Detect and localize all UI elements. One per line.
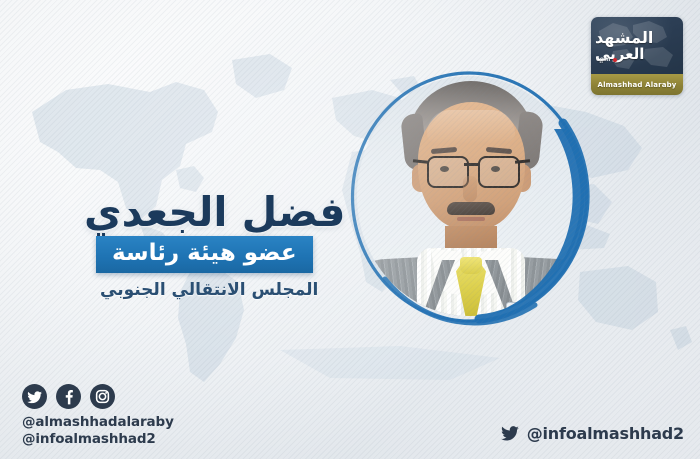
bottom-right-handle[interactable]: @infoalmashhad2 [500, 423, 684, 443]
news-poster: فضل الجعدي عضو هيئة رئاسة المجلس الانتقا… [0, 0, 700, 459]
social-icons-row [22, 384, 174, 409]
logo-com-label: com [596, 56, 611, 63]
bottom-right-handle-text: @infoalmashhad2 [527, 424, 684, 443]
social-handles: @almashhadalaraby @infoalmashhad2 [22, 414, 174, 448]
logo-arabic-text: المشهد العربي [591, 17, 683, 74]
logo-top-panel: المشهد العربي com [591, 17, 683, 74]
logo-red-dot-icon [613, 58, 617, 62]
twitter-icon [500, 423, 520, 443]
handle-secondary[interactable]: @infoalmashhad2 [22, 431, 174, 448]
person-name: فضل الجعدي [84, 189, 346, 235]
portrait-ring-icon [345, 65, 594, 329]
logo-line-2: العربي [595, 46, 644, 62]
social-block: @almashhadalaraby @infoalmashhad2 [22, 384, 174, 448]
channel-logo[interactable]: المشهد العربي com Almashhad Alaraby [591, 17, 683, 95]
twitter-icon[interactable] [22, 384, 47, 409]
organization-label: المجلس الانتقالي الجنوبي [100, 279, 318, 301]
logo-subtitle: Almashhad Alaraby [598, 81, 677, 89]
logo-line-1: المشهد [595, 29, 653, 46]
facebook-icon[interactable] [56, 384, 81, 409]
portrait-container [352, 72, 587, 322]
instagram-icon[interactable] [90, 384, 115, 409]
role-badge: عضو هيئة رئاسة [96, 236, 313, 273]
handle-primary[interactable]: @almashhadalaraby [22, 414, 174, 431]
logo-subtitle-band: Almashhad Alaraby [591, 74, 683, 95]
globe-icon [593, 17, 681, 74]
